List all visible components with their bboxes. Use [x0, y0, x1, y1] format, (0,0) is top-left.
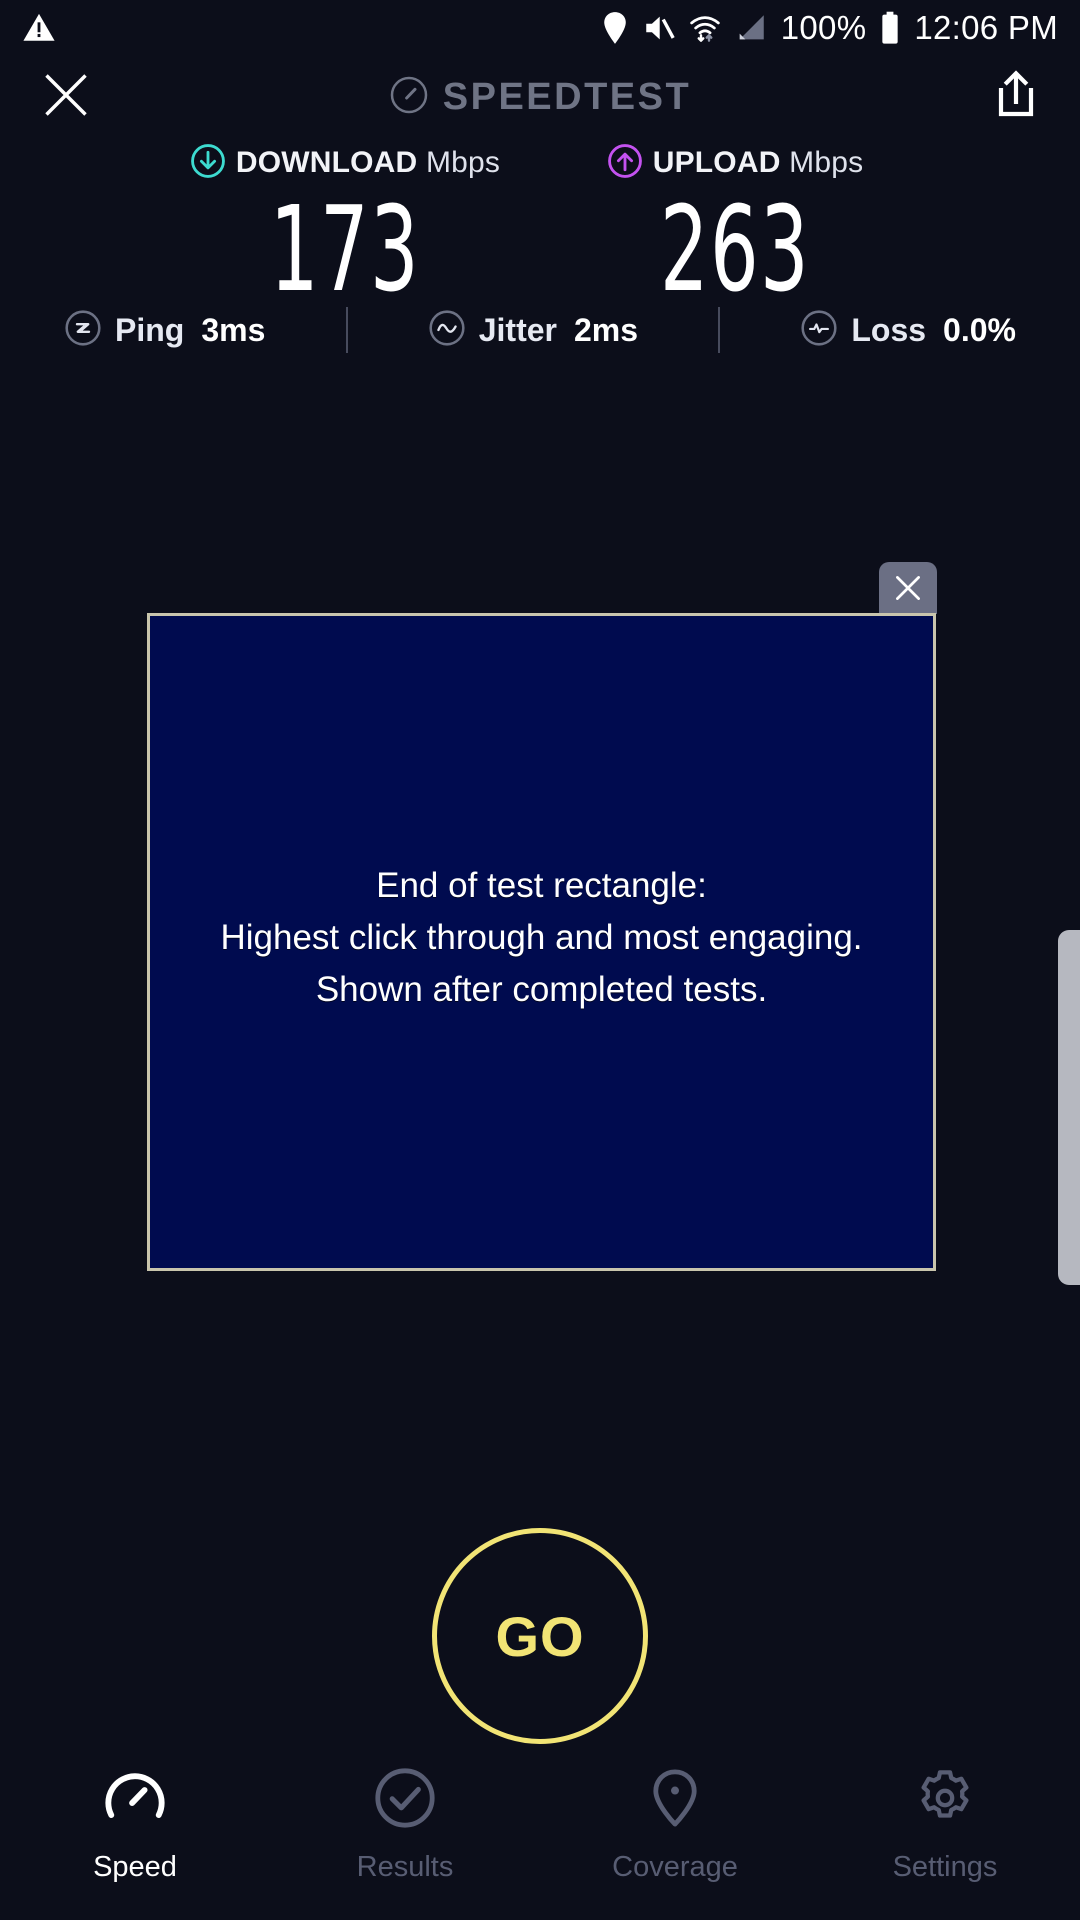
battery-full-icon [879, 11, 901, 45]
ad-line-2: Highest click through and most engaging. [220, 912, 862, 964]
jitter-icon [428, 309, 466, 352]
ad-close-button[interactable] [879, 562, 937, 614]
upload-label: UPLOAD [653, 146, 781, 179]
location-pin-icon [601, 11, 629, 45]
wifi-transfer-icon [689, 11, 721, 45]
upload-metric: UPLOAD Mbps 263 [545, 140, 925, 308]
warning-triangle-icon [22, 11, 56, 45]
nav-label-settings: Settings [893, 1851, 998, 1884]
connection-stats-row: Ping 3ms Jitter 2ms [0, 300, 1080, 360]
ad-line-1: End of test rectangle: [220, 860, 862, 912]
stat-loss-label: Loss [851, 312, 926, 349]
test-results: DOWNLOAD Mbps 173 UPLOAD Mbps 263 [0, 140, 1080, 308]
battery-percent-label: 100% [781, 9, 867, 47]
nav-item-settings[interactable]: Settings [810, 1766, 1080, 1884]
page-title-label: SPEEDTEST [443, 76, 691, 119]
stat-ping-label: Ping [115, 312, 184, 349]
speedometer-icon [389, 75, 429, 120]
share-icon [992, 69, 1040, 121]
stat-loss: Loss 0.0% [800, 309, 1016, 352]
nav-label-results: Results [357, 1851, 454, 1884]
speedtest-app: 100% 12:06 PM SPEEDTEST [0, 0, 1080, 1920]
stat-jitter: Jitter 2ms [428, 309, 638, 352]
go-button-label: GO [495, 1604, 584, 1669]
go-button[interactable]: GO [432, 1528, 648, 1744]
status-bar: 100% 12:06 PM [0, 0, 1080, 55]
upload-arrow-icon [607, 143, 643, 184]
stat-ping-value: 3ms [201, 312, 265, 349]
close-button[interactable] [40, 69, 92, 126]
status-bar-clock: 12:06 PM [914, 9, 1058, 47]
volume-mute-icon [642, 11, 676, 45]
download-arrow-icon [190, 143, 226, 184]
upload-value: 263 [598, 190, 872, 308]
close-icon [891, 571, 925, 605]
ad-line-3: Shown after completed tests. [220, 964, 862, 1016]
loss-icon [800, 309, 838, 352]
upload-unit: Mbps [789, 146, 863, 179]
ad-text: End of test rectangle: Highest click thr… [220, 860, 862, 1015]
close-icon [40, 69, 92, 121]
stat-divider-2 [718, 307, 720, 353]
share-button[interactable] [992, 69, 1040, 126]
advertisement-panel[interactable]: End of test rectangle: Highest click thr… [147, 613, 936, 1271]
vertical-scrollbar[interactable] [1058, 930, 1080, 1285]
stat-jitter-value: 2ms [574, 312, 638, 349]
bottom-navigation: Speed Results Coverage [0, 1760, 1080, 1920]
nav-item-speed[interactable]: Speed [0, 1766, 270, 1884]
nav-item-results[interactable]: Results [270, 1766, 540, 1884]
speedometer-icon [103, 1766, 167, 1835]
check-circle-icon [373, 1766, 437, 1835]
map-pin-icon [643, 1766, 707, 1835]
cellular-signal-icon [734, 11, 768, 45]
download-label: DOWNLOAD [236, 146, 418, 179]
stat-ping: Ping 3ms [64, 309, 265, 352]
nav-item-coverage[interactable]: Coverage [540, 1766, 810, 1884]
stat-loss-value: 0.0% [943, 312, 1016, 349]
status-bar-left [22, 11, 56, 45]
stat-jitter-label: Jitter [479, 312, 557, 349]
download-metric: DOWNLOAD Mbps 173 [155, 140, 535, 308]
status-bar-right: 100% 12:06 PM [601, 9, 1058, 47]
speed-metrics-row: DOWNLOAD Mbps 173 UPLOAD Mbps 263 [0, 140, 1080, 308]
stat-divider-1 [346, 307, 348, 353]
page-title: SPEEDTEST [0, 55, 1080, 140]
app-header: SPEEDTEST [0, 55, 1080, 140]
download-unit: Mbps [426, 146, 500, 179]
download-value: 173 [208, 190, 482, 308]
ping-icon [64, 309, 102, 352]
nav-label-speed: Speed [93, 1851, 177, 1884]
nav-label-coverage: Coverage [612, 1851, 738, 1884]
gear-icon [913, 1766, 977, 1835]
